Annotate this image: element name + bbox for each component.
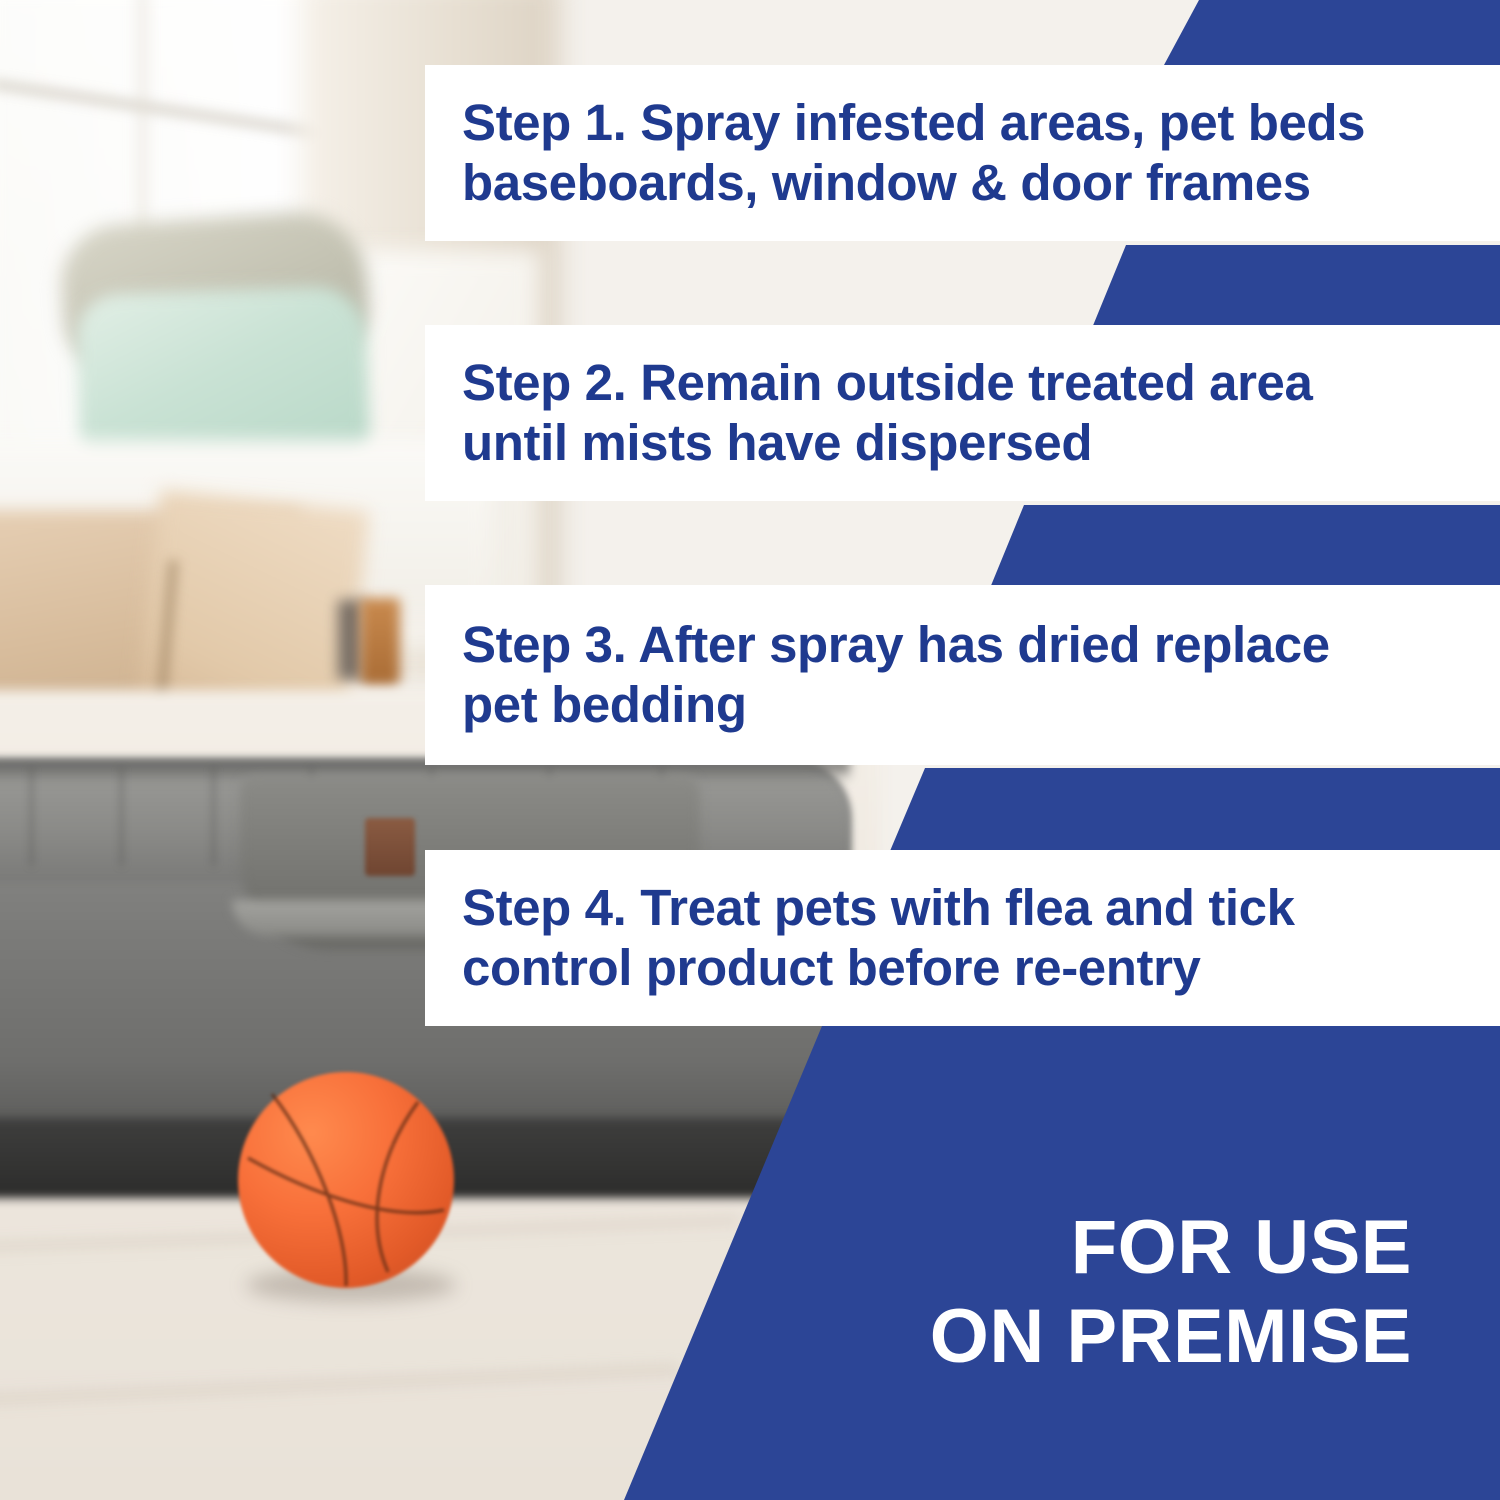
step-card-3-content: Step 3. After spray has dried replace pe… <box>425 615 1500 734</box>
step-card-2-content: Step 2. Remain outside treated area unti… <box>425 353 1500 472</box>
footer-line-1: FOR USE <box>930 1203 1412 1293</box>
step-card-2: Step 2. Remain outside treated area unti… <box>425 325 1500 501</box>
step-card-1: Step 1. Spray infested areas, pet beds b… <box>425 65 1500 241</box>
blue-band-2 <box>1092 245 1500 328</box>
footer-line-2: ON PREMISE <box>930 1292 1412 1382</box>
step-3-line-1: Step 3. After spray has dried replace <box>462 615 1480 675</box>
blue-band-3 <box>990 505 1500 588</box>
step-card-3: Step 3. After spray has dried replace pe… <box>425 585 1500 765</box>
footer-callout: FOR USE ON PREMISE <box>930 1203 1412 1382</box>
step-3-line-2: pet bedding <box>462 675 1480 735</box>
step-2-line-2: until mists have dispersed <box>462 413 1480 473</box>
step-1-line-1: Step 1. Spray infested areas, pet beds <box>462 93 1480 153</box>
blue-band-1 <box>1164 0 1500 65</box>
step-1-line-2: baseboards, window & door frames <box>462 153 1480 213</box>
step-4-line-2: control product before re-entry <box>462 938 1480 998</box>
blue-band-4 <box>890 768 1500 851</box>
step-card-4-content: Step 4. Treat pets with flea and tick co… <box>425 878 1500 997</box>
step-card-4: Step 4. Treat pets with flea and tick co… <box>425 850 1500 1026</box>
step-card-1-content: Step 1. Spray infested areas, pet beds b… <box>425 93 1500 212</box>
step-4-line-1: Step 4. Treat pets with flea and tick <box>462 878 1480 938</box>
step-2-line-1: Step 2. Remain outside treated area <box>462 353 1480 413</box>
